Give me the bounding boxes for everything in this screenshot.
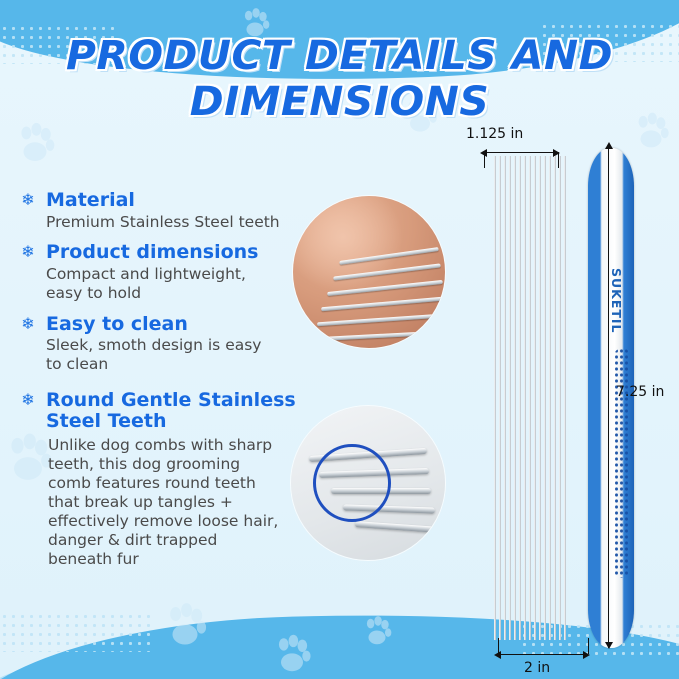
dimension-tick	[484, 152, 485, 168]
feature-body: Unlike dog combs with sharp teeth, this …	[48, 436, 284, 568]
page-title-line-2: DIMENSIONS	[0, 82, 679, 122]
dimension-label-height: 7.25 in	[616, 384, 664, 400]
photo-rounded-teeth-macro	[291, 406, 445, 560]
arrow-up-icon	[605, 142, 613, 149]
dimension-line-width-bottom	[498, 654, 588, 655]
comb-tooth	[534, 156, 536, 640]
page-title: PRODUCT DETAILS AND DIMENSIONS	[0, 36, 679, 122]
feature-heading: Easy to clean	[46, 314, 348, 335]
feature-body: Sleek, smoth design is easy to clean	[46, 336, 276, 374]
paw-print-icon	[160, 600, 210, 650]
comb-tooth	[509, 156, 511, 640]
paw-print-icon	[360, 614, 394, 648]
comb-tooth	[554, 156, 556, 640]
snowflake-icon: ❄	[20, 317, 36, 333]
comb-tooth	[559, 156, 561, 640]
comb-tooth	[514, 156, 516, 640]
comb-tooth	[524, 156, 526, 640]
comb-tooth	[355, 521, 439, 533]
product-comb: SUKETIL	[494, 148, 634, 648]
page-title-line-1: PRODUCT DETAILS AND	[0, 36, 679, 76]
dimension-line-height	[608, 148, 609, 648]
snowflake-icon: ❄	[20, 393, 36, 409]
highlight-circle	[313, 444, 391, 522]
dimension-tick	[588, 638, 589, 654]
comb-tooth	[564, 156, 566, 640]
comb-tooth	[499, 156, 501, 640]
feature-item-easy-to-clean: ❄ Easy to clean Sleek, smoth design is e…	[18, 314, 348, 374]
comb-tooth	[317, 314, 441, 327]
snowflake-icon: ❄	[20, 193, 36, 209]
comb-tooth	[539, 156, 541, 640]
comb-tooth	[519, 156, 521, 640]
feature-body: Compact and lightweight, easy to hold	[46, 265, 251, 303]
dimension-label-width-bottom: 2 in	[524, 660, 550, 676]
handle-grip-dots	[614, 348, 630, 578]
infographic-page: PRODUCT DETAILS AND DIMENSIONS ❄ Materia…	[0, 0, 679, 679]
product-diagram: 1.125 in	[452, 130, 667, 660]
comb-tooth	[504, 156, 506, 640]
comb-tooth	[494, 156, 496, 640]
comb-tooth	[319, 331, 437, 341]
dimension-tick	[498, 638, 499, 654]
paw-print-icon	[270, 632, 314, 676]
comb-teeth-row	[494, 156, 566, 640]
arrow-down-icon	[605, 642, 613, 649]
comb-tooth	[544, 156, 546, 640]
brand-label: SUKETIL	[596, 268, 624, 334]
dot-texture-bottom-left	[0, 612, 150, 652]
comb-tooth	[321, 297, 443, 312]
dimension-label-width-top: 1.125 in	[466, 126, 523, 142]
paw-print-icon	[12, 120, 58, 166]
comb-tooth	[529, 156, 531, 640]
snowflake-icon: ❄	[20, 245, 36, 261]
photo-comb-on-skin	[293, 196, 445, 348]
feature-heading: Round Gentle Stainless Steel Teeth	[46, 390, 334, 431]
comb-tooth	[549, 156, 551, 640]
